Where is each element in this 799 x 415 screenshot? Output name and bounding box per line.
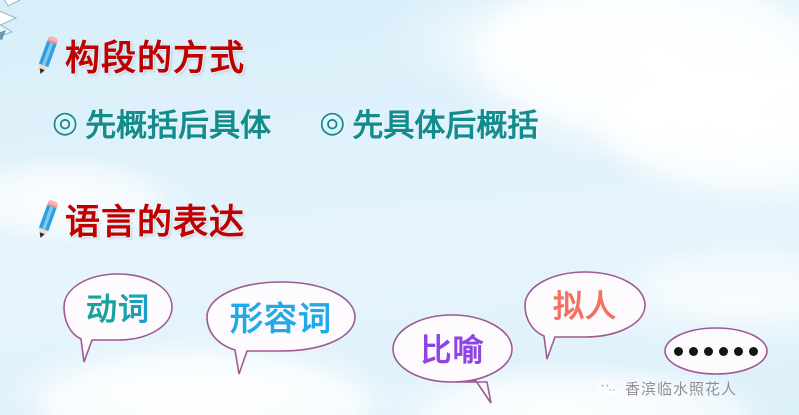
bullet-marker-icon: ◎ [52, 108, 78, 138]
bullet-marker-icon: ◎ [319, 108, 345, 138]
speech-bubble-shape [62, 272, 174, 364]
speech-bubble-shape [205, 280, 357, 376]
bullet-item-1: ◎ 先概括后具体 [52, 100, 271, 145]
section-heading-1-text: 构段的方式 [65, 30, 245, 81]
cloud-wisp [640, 250, 799, 320]
ellipsis-dot [734, 347, 743, 356]
bullet-item-2: ◎ 先具体后概括 [319, 100, 538, 145]
speech-bubble-shape [523, 270, 647, 362]
speech-bubble-ellipsis[interactable] [662, 325, 770, 381]
bullet-item-1-label: 先概括后具体 [85, 100, 271, 145]
ellipsis-dot [674, 347, 683, 356]
speech-bubble-shape [390, 313, 515, 405]
pencil-icon [33, 197, 61, 243]
watermark-text: 香滨临水照花人 [625, 378, 737, 399]
slide-canvas: 构段的方式 ◎ 先概括后具体 ◎ 先具体后概括 语言的表达 [0, 0, 799, 415]
speech-bubble-xingrongci[interactable]: 形容词 [205, 280, 357, 376]
ellipsis-dot [749, 347, 758, 356]
ellipsis-dots [662, 325, 770, 377]
speech-bubble-biyu[interactable]: 比喻 [390, 313, 515, 405]
watermark: 香滨临水照花人 [597, 378, 737, 399]
cloud-wisp [600, 60, 799, 180]
bullet-item-2-label: 先具体后概括 [352, 100, 538, 145]
section-heading-1: 构段的方式 [33, 30, 245, 81]
pencil-icon [33, 33, 61, 79]
ellipsis-dot [704, 347, 713, 356]
ellipsis-dot [689, 347, 698, 356]
bullet-list: ◎ 先概括后具体 ◎ 先具体后概括 [52, 100, 538, 145]
ellipsis-dot [719, 347, 728, 356]
wechat-icon [597, 380, 619, 398]
speech-bubble-dongci[interactable]: 动词 [62, 272, 174, 364]
section-heading-2: 语言的表达 [33, 194, 245, 245]
section-heading-2-text: 语言的表达 [65, 194, 245, 245]
speech-bubble-niren[interactable]: 拟人 [523, 270, 647, 362]
